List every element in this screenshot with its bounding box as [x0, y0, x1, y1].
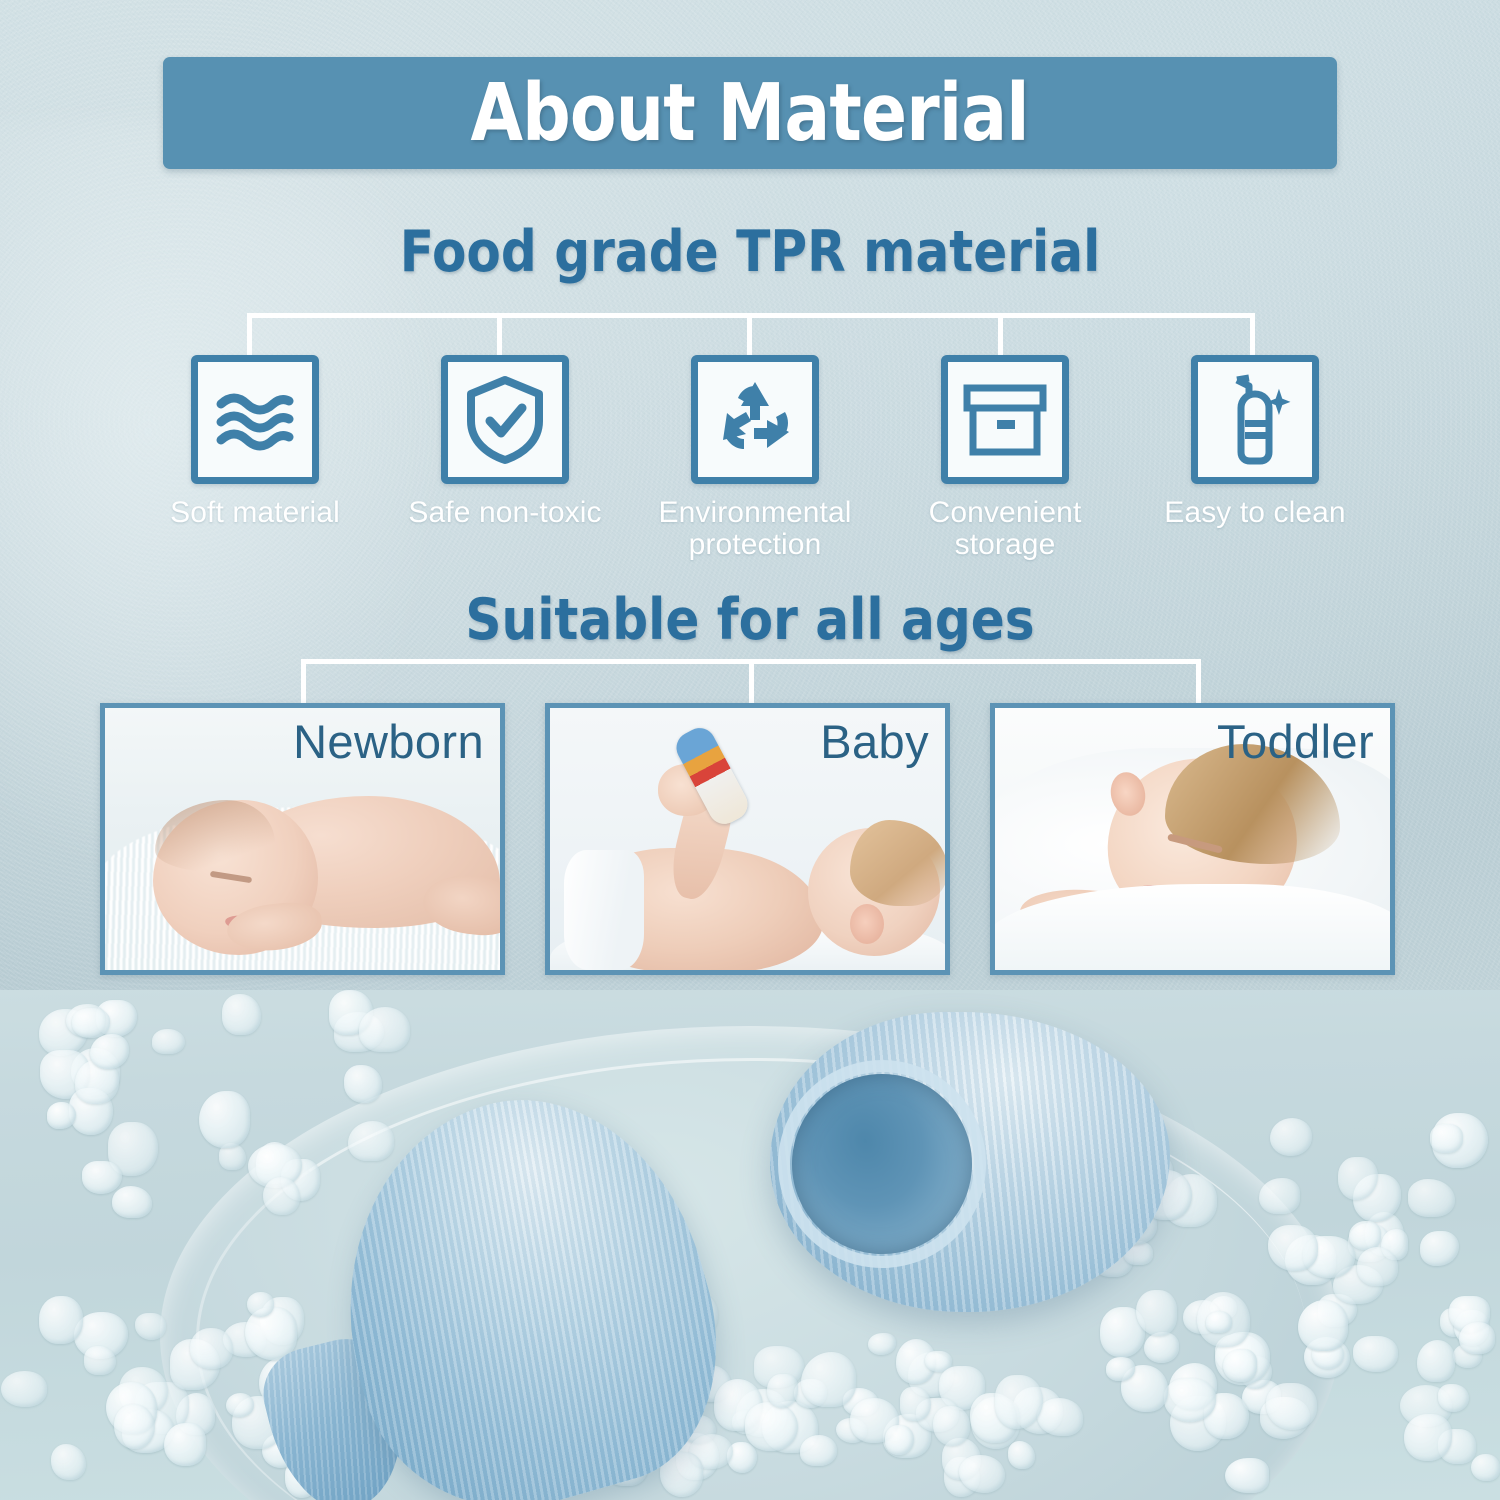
feature-bracket: [247, 313, 1255, 357]
resin-pellet: [359, 1007, 410, 1053]
resin-pellet: [900, 1387, 930, 1421]
ages-bracket-drop-1: [301, 659, 306, 705]
resin-pellet: [1225, 1458, 1269, 1492]
resin-pellet: [82, 1161, 121, 1195]
spray-bottle-icon: [1215, 374, 1295, 466]
wave-lines-icon: [212, 377, 298, 463]
resin-pellet: [51, 1444, 86, 1480]
easy-to-clean-icon-box: [1191, 355, 1319, 484]
feature-label-convenient-storage: Convenient storage: [900, 497, 1110, 562]
resin-pellet: [1268, 1225, 1318, 1271]
resin-pellet: [190, 1328, 233, 1369]
resin-pellet: [1144, 1332, 1180, 1363]
age-label-baby: Baby: [820, 716, 929, 768]
ages-bracket-drop-2: [749, 659, 754, 705]
resin-pellet: [344, 1065, 382, 1103]
resin-pellet: [39, 1296, 83, 1344]
feature-label-safe-non-toxic: Safe non-toxic: [408, 497, 601, 529]
resin-pellet: [263, 1177, 301, 1216]
resin-pellet: [868, 1333, 896, 1355]
resin-pellet: [114, 1404, 154, 1449]
resin-pellet: [1, 1371, 46, 1407]
resin-pellet: [1136, 1290, 1177, 1335]
resin-pellet: [1430, 1124, 1463, 1153]
title-banner: About Material: [163, 57, 1337, 169]
resin-pellet: [247, 1292, 274, 1317]
resin-pellet: [90, 1034, 129, 1070]
bracket-drop-4: [998, 313, 1003, 357]
bracket-drop-1: [247, 313, 252, 357]
resin-pellet: [1438, 1384, 1469, 1412]
resin-pellet: [1270, 1118, 1312, 1156]
resin-pellet: [72, 1008, 111, 1039]
feature-item-easy-to-clean: Easy to clean: [1150, 355, 1360, 529]
resin-pellet: [164, 1423, 206, 1467]
age-card-toddler: Toddler: [990, 703, 1395, 975]
environmental-protection-icon-box: [691, 355, 819, 484]
bracket-drop-5: [1250, 313, 1255, 357]
bracket-drop-2: [497, 313, 502, 357]
material-heading: Food grade TPR material: [90, 224, 1410, 281]
resin-pellet: [152, 1029, 185, 1055]
age-card-baby: Baby: [545, 703, 950, 975]
resin-pellet: [1420, 1231, 1459, 1267]
resin-pellet: [1298, 1300, 1348, 1351]
resin-pellet: [800, 1435, 837, 1466]
age-label-newborn: Newborn: [293, 716, 484, 768]
resin-pellet: [1408, 1179, 1455, 1217]
resin-pellet: [1459, 1322, 1494, 1354]
safe-non-toxic-icon-box: [441, 355, 569, 484]
bracket-drop-3: [747, 313, 752, 357]
age-card-newborn: Newborn: [100, 703, 505, 975]
ages-heading: Suitable for all ages: [90, 592, 1410, 649]
resin-pellet: [1404, 1414, 1452, 1462]
resin-pellet: [1206, 1311, 1232, 1332]
resin-pellet: [745, 1402, 798, 1452]
shield-check-icon: [462, 375, 548, 465]
ages-bracket: [301, 659, 1201, 705]
infographic-page: About Material Food grade TPR material: [0, 0, 1500, 1500]
feature-label-soft-material: Soft material: [170, 497, 340, 529]
soft-material-icon-box: [191, 355, 319, 484]
resin-pellet: [1259, 1178, 1300, 1213]
recycle-icon: [711, 376, 799, 464]
resin-pellet: [1353, 1336, 1397, 1372]
feature-item-soft-material: Soft material: [150, 355, 360, 529]
feature-item-safe-non-toxic: Safe non-toxic: [400, 355, 610, 529]
product-photo: [0, 990, 1500, 1500]
resin-pellet: [84, 1346, 115, 1375]
resin-pellet: [135, 1313, 166, 1340]
resin-pellet: [885, 1425, 914, 1455]
feature-item-convenient-storage: Convenient storage: [900, 355, 1110, 562]
resin-pellet: [1417, 1340, 1455, 1382]
resin-pellet: [1471, 1454, 1499, 1481]
storage-box-icon: [961, 380, 1049, 460]
feature-label-easy-to-clean: Easy to clean: [1164, 497, 1345, 529]
resin-pellet: [1106, 1357, 1135, 1380]
page-title: About Material: [471, 74, 1029, 153]
resin-pellet: [1357, 1247, 1398, 1286]
resin-pellet: [1037, 1398, 1083, 1436]
resin-pellet: [47, 1102, 76, 1129]
resin-pellet: [222, 994, 261, 1035]
resin-pellet: [112, 1186, 152, 1219]
resin-pellet: [226, 1393, 254, 1417]
resin-pellet: [801, 1352, 856, 1408]
resin-pellet: [199, 1091, 250, 1148]
resin-pellet: [1349, 1221, 1380, 1250]
ages-bracket-drop-3: [1196, 659, 1201, 705]
feature-list: Soft material Safe non-toxic: [150, 355, 1360, 585]
resin-pellet: [1266, 1383, 1317, 1430]
feature-label-environmental-protection: Environmental protection: [650, 497, 860, 562]
resin-pellet: [348, 1121, 393, 1161]
feature-item-environmental-protection: Environmental protection: [650, 355, 860, 562]
resin-pellet: [1008, 1441, 1035, 1469]
age-card-list: Newborn Baby: [100, 703, 1395, 975]
convenient-storage-icon-box: [941, 355, 1069, 484]
resin-pellet-field: [0, 990, 1500, 1500]
resin-pellet: [1223, 1349, 1258, 1382]
age-label-toddler: Toddler: [1217, 716, 1374, 768]
resin-pellet: [933, 1406, 969, 1446]
